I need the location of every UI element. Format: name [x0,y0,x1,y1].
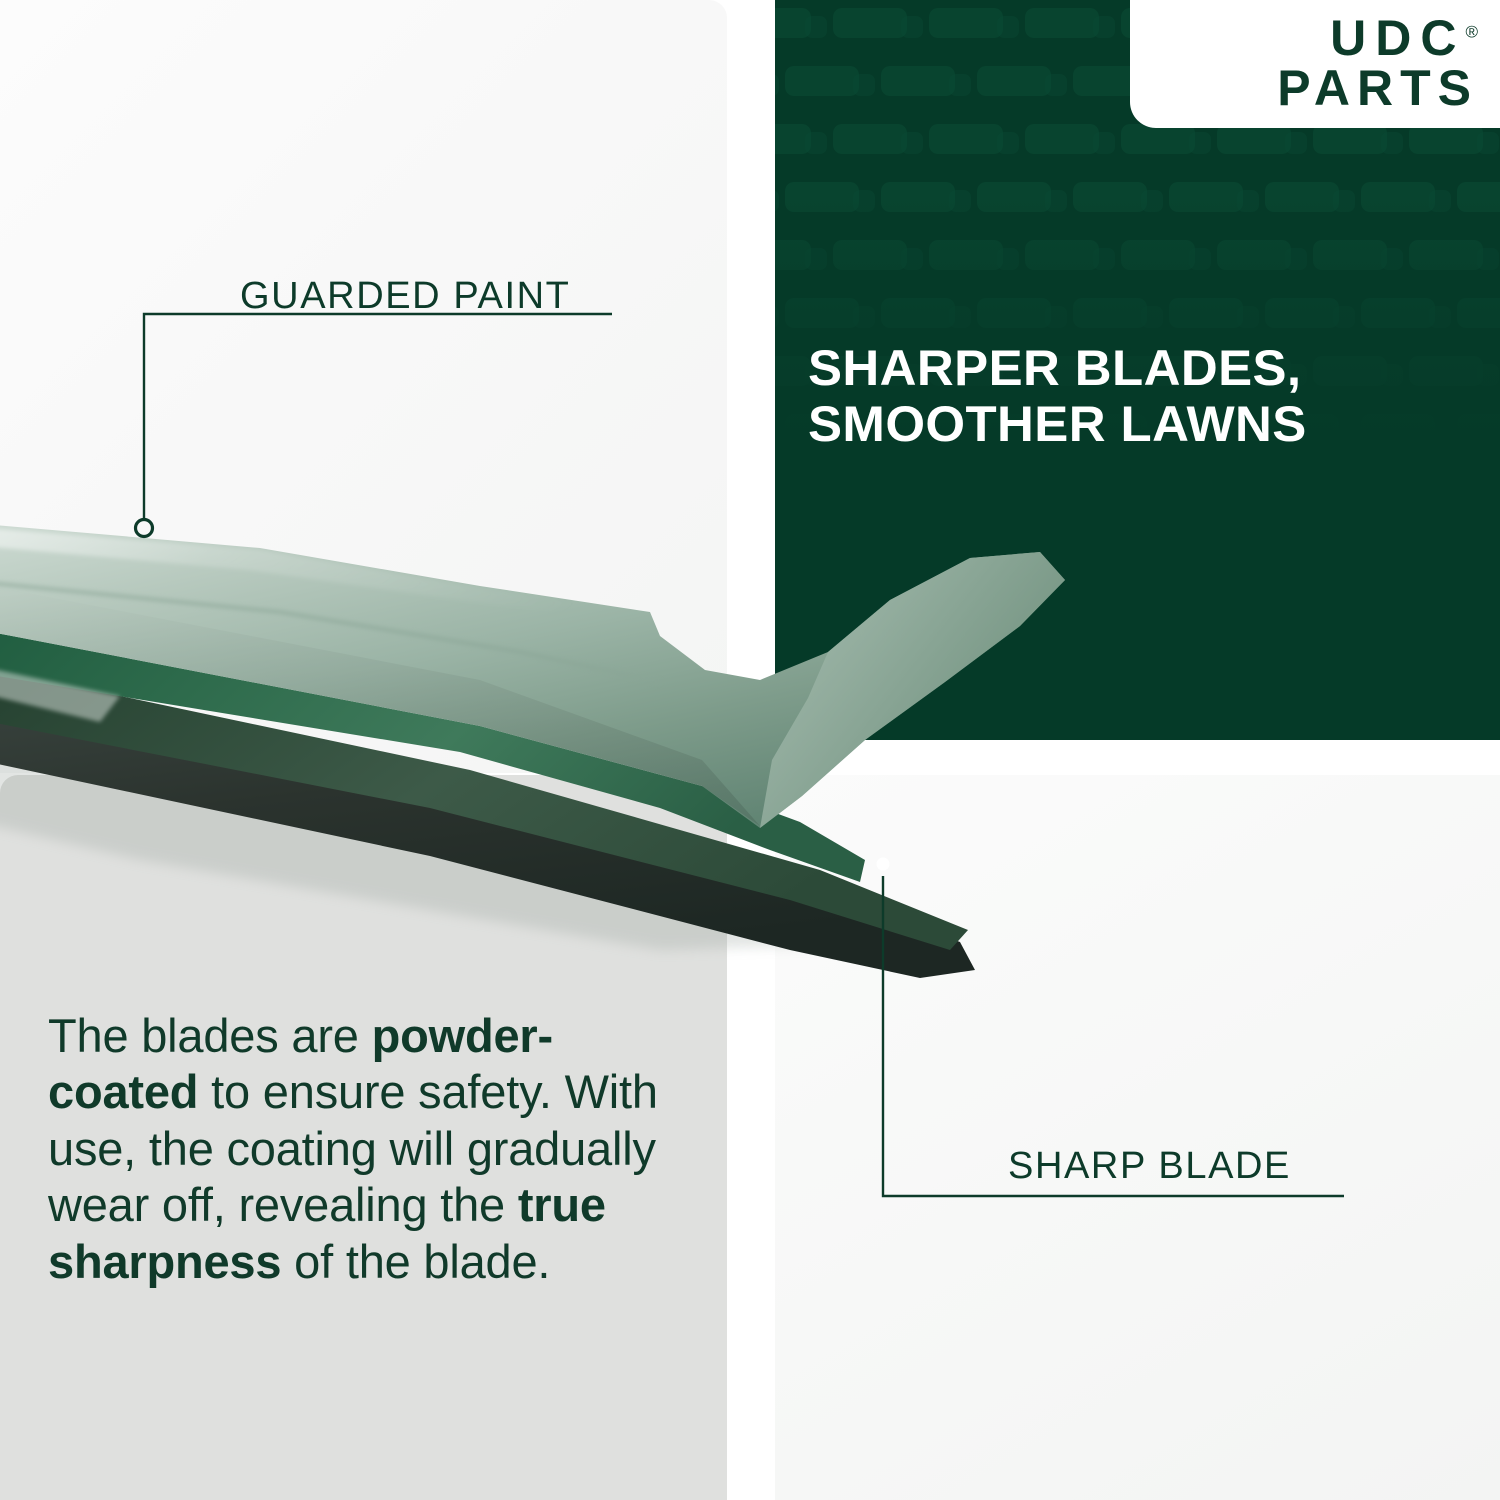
callout-marker-sharp-blade [877,858,890,871]
registered-trademark-icon: ® [1465,22,1478,41]
brand-logo: UDC® PARTS [1277,14,1478,112]
headline-line-1: SHARPER BLADES, [808,340,1500,396]
logo-line-1: UDC® [1277,14,1478,62]
leader-line-sharp-blade [866,850,1366,1210]
body-copy-text: of the blade. [281,1235,550,1288]
body-copy-text: The blades are [48,1009,372,1062]
leader-line-guarded-paint [130,310,630,560]
headline: SHARPER BLADES, SMOOTHER LAWNS [808,340,1500,452]
body-copy: The blades are powder-coated to ensure s… [48,1008,688,1290]
product-infographic: UDC® PARTS SHARPER BLADES, SMOOTHER LAWN… [0,0,1500,1500]
callout-marker-guarded-paint [136,520,153,537]
logo-line-2: PARTS [1277,64,1478,112]
headline-line-2: SMOOTHER LAWNS [808,396,1500,452]
